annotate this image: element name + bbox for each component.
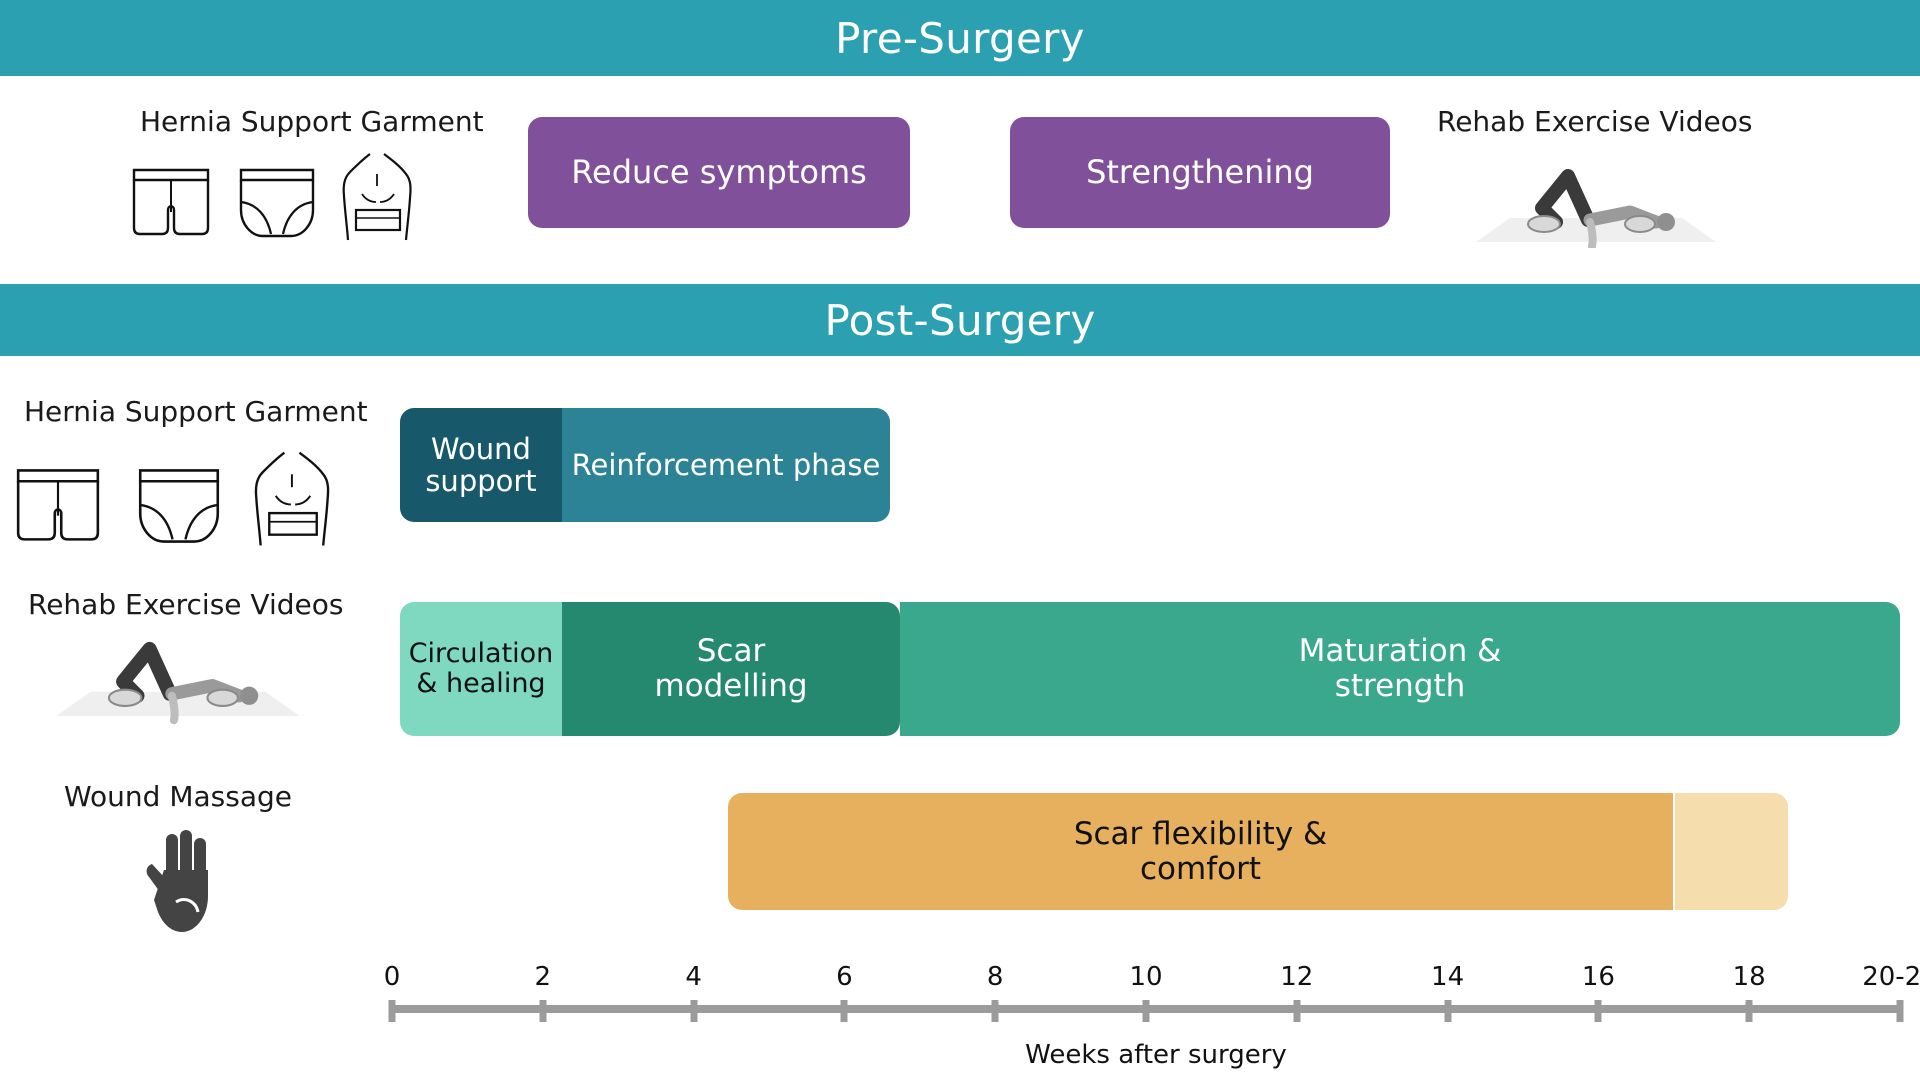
axis-tick-8 xyxy=(992,1000,999,1022)
axis-tick-label-8: 8 xyxy=(987,962,1004,992)
axis-tick-label-14: 14 xyxy=(1431,962,1464,992)
exercise-person-icon xyxy=(50,630,306,725)
axis-tick-label-4: 4 xyxy=(685,962,702,992)
torso-support-belt-icon xyxy=(340,150,416,242)
axis-tick-10 xyxy=(1143,1000,1150,1022)
axis-tick-label-12: 12 xyxy=(1280,962,1313,992)
briefs-icon xyxy=(134,464,224,548)
post-surgery-banner: Post-Surgery xyxy=(0,284,1920,356)
infographic-canvas: Pre-Surgery Hernia Support Garment Reduc… xyxy=(0,0,1920,1080)
bar-circulation-healing[interactable]: Circulation & healing xyxy=(400,602,562,736)
axis-tick-label-20-24: 20-24 xyxy=(1862,962,1920,992)
axis-tick-4 xyxy=(690,1000,697,1022)
bar-reinforcement-phase[interactable]: Reinforcement phase xyxy=(562,408,890,522)
axis-tick-2 xyxy=(539,1000,546,1022)
bar-scar-flexibility-comfort-label: Scar flexibility & comfort xyxy=(1074,817,1327,886)
bar-maturation-strength-label: Maturation & strength xyxy=(1299,634,1502,703)
pre-pill-strengthening-label: Strengthening xyxy=(1086,155,1314,191)
axis-tick-0 xyxy=(389,1000,396,1022)
axis-tick-label-10: 10 xyxy=(1129,962,1162,992)
pre-surgery-banner: Pre-Surgery xyxy=(0,0,1920,76)
pre-exercise-icon xyxy=(1470,160,1722,248)
axis-tick-12 xyxy=(1293,1000,1300,1022)
axis-tick-label-16: 16 xyxy=(1582,962,1615,992)
axis-tick-18 xyxy=(1746,1000,1753,1022)
post-hand-icon xyxy=(138,830,220,936)
axis-tick-label-0: 0 xyxy=(384,962,401,992)
bar-maturation-strength[interactable]: Maturation & strength xyxy=(900,602,1900,736)
briefs-icon xyxy=(236,164,318,242)
axis-tick-label-6: 6 xyxy=(836,962,853,992)
bar-scar-flexibility-comfort[interactable]: Scar flexibility & comfort xyxy=(728,793,1673,910)
pre-pill-strengthening[interactable]: Strengthening xyxy=(1010,117,1390,228)
post-row-label-wound-massage: Wound Massage xyxy=(64,780,292,813)
pre-garment-icon-group xyxy=(128,150,416,242)
bar-wound-support-label: Wound support xyxy=(400,433,562,498)
pre-rehab-videos-label: Rehab Exercise Videos xyxy=(1437,105,1752,138)
bar-scar-modelling[interactable]: Scar modelling xyxy=(562,602,900,736)
bar-scar-flexibility-taper[interactable] xyxy=(1675,793,1788,910)
pre-pill-reduce-symptoms[interactable]: Reduce symptoms xyxy=(528,117,910,228)
axis-tick-20-24 xyxy=(1897,1000,1904,1022)
post-exercise-icon xyxy=(50,630,306,725)
post-garment-icon-group xyxy=(10,448,334,548)
hand-icon xyxy=(138,830,220,936)
axis-caption: Weeks after surgery xyxy=(1025,1040,1287,1070)
bar-reinforcement-phase-label: Reinforcement phase xyxy=(572,449,881,481)
boxer-briefs-icon xyxy=(10,464,106,548)
bar-wound-support[interactable]: Wound support xyxy=(400,408,562,522)
axis-tick-14 xyxy=(1444,1000,1451,1022)
axis-tick-16 xyxy=(1595,1000,1602,1022)
pre-hernia-garment-label: Hernia Support Garment xyxy=(140,105,484,138)
post-row-label-rehab-videos: Rehab Exercise Videos xyxy=(28,588,343,621)
exercise-person-icon xyxy=(1470,160,1722,248)
axis-tick-label-18: 18 xyxy=(1733,962,1766,992)
boxer-briefs-icon xyxy=(128,164,214,242)
torso-support-belt-icon xyxy=(252,448,334,548)
axis-tick-6 xyxy=(841,1000,848,1022)
pre-pill-reduce-symptoms-label: Reduce symptoms xyxy=(571,155,867,191)
bar-scar-modelling-label: Scar modelling xyxy=(654,634,807,703)
axis-tick-label-2: 2 xyxy=(535,962,552,992)
post-surgery-title: Post-Surgery xyxy=(824,296,1095,345)
post-row-label-hernia-garment: Hernia Support Garment xyxy=(24,395,368,428)
bar-circulation-healing-label: Circulation & healing xyxy=(409,639,554,699)
pre-surgery-title: Pre-Surgery xyxy=(835,14,1085,63)
